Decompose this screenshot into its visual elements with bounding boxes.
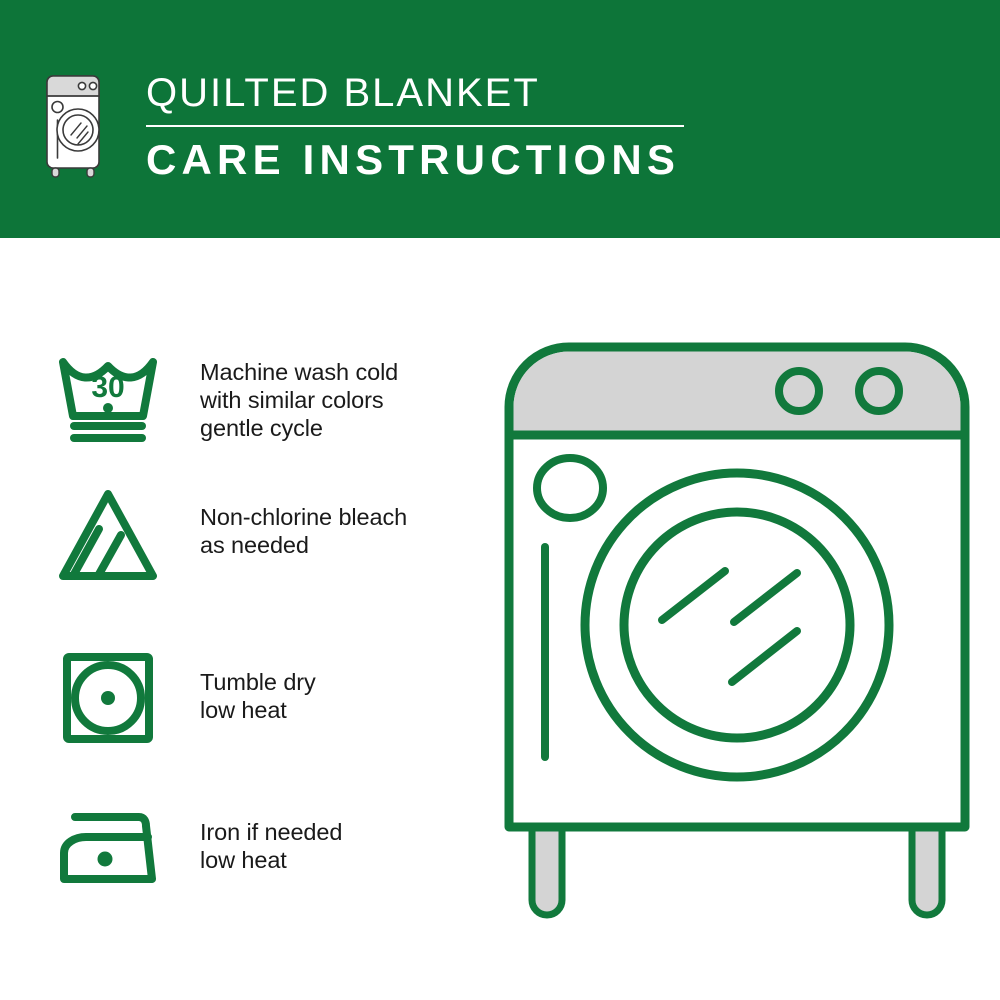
page-subtitle: CARE INSTRUCTIONS [146, 136, 766, 184]
care-text-line: low heat [200, 846, 470, 874]
page-title: QUILTED BLANKET [146, 70, 766, 116]
care-text-line: with similar colors [200, 386, 470, 414]
care-instruction-item: Non-chlorine bleach as needed [0, 478, 470, 618]
wash-temperature-label: 30 [91, 371, 124, 404]
title-divider [146, 125, 684, 127]
care-text-line: Machine wash cold [200, 358, 470, 386]
care-instruction-text: Iron if needed low heat [200, 818, 470, 874]
care-text-line: gentle cycle [200, 414, 470, 442]
care-instruction-text: Non-chlorine bleach as needed [200, 503, 470, 559]
washer-knob [779, 371, 819, 411]
care-text-line: as needed [200, 531, 470, 559]
care-instruction-item: Iron if needed low heat [0, 783, 470, 923]
washer-knob [859, 371, 899, 411]
care-instruction-text: Machine wash cold with similar colors ge… [200, 358, 470, 442]
non-chlorine-bleach-triangle-icon [45, 478, 170, 593]
care-text-line: Non-chlorine bleach [200, 503, 470, 531]
washer-leg [912, 820, 942, 915]
care-instruction-item: 30 Machine wash cold with similar colors… [0, 338, 470, 478]
washer-leg [532, 820, 562, 915]
care-instruction-item: Tumble dry low heat [0, 638, 470, 778]
care-text-line: Iron if needed [200, 818, 470, 846]
page-header: QUILTED BLANKET CARE INSTRUCTIONS [0, 0, 1000, 238]
care-text-line: Tumble dry [200, 668, 470, 696]
drum-inner-ring [624, 512, 850, 738]
wash-tub-30-icon: 30 [45, 338, 170, 453]
washing-machine-illustration [487, 325, 987, 945]
care-text-line: low heat [200, 696, 470, 724]
care-instructions-page: QUILTED BLANKET CARE INSTRUCTIONS 30 [0, 0, 1000, 1000]
header-title-block: QUILTED BLANKET CARE INSTRUCTIONS [146, 70, 766, 184]
care-instruction-list: 30 Machine wash cold with similar colors… [0, 238, 470, 1000]
tumble-dry-low-heat-icon [45, 643, 170, 758]
detergent-dial-icon [537, 458, 603, 518]
care-instruction-text: Tumble dry low heat [200, 668, 470, 724]
iron-low-heat-icon [45, 793, 170, 908]
washing-machine-icon [44, 72, 106, 178]
